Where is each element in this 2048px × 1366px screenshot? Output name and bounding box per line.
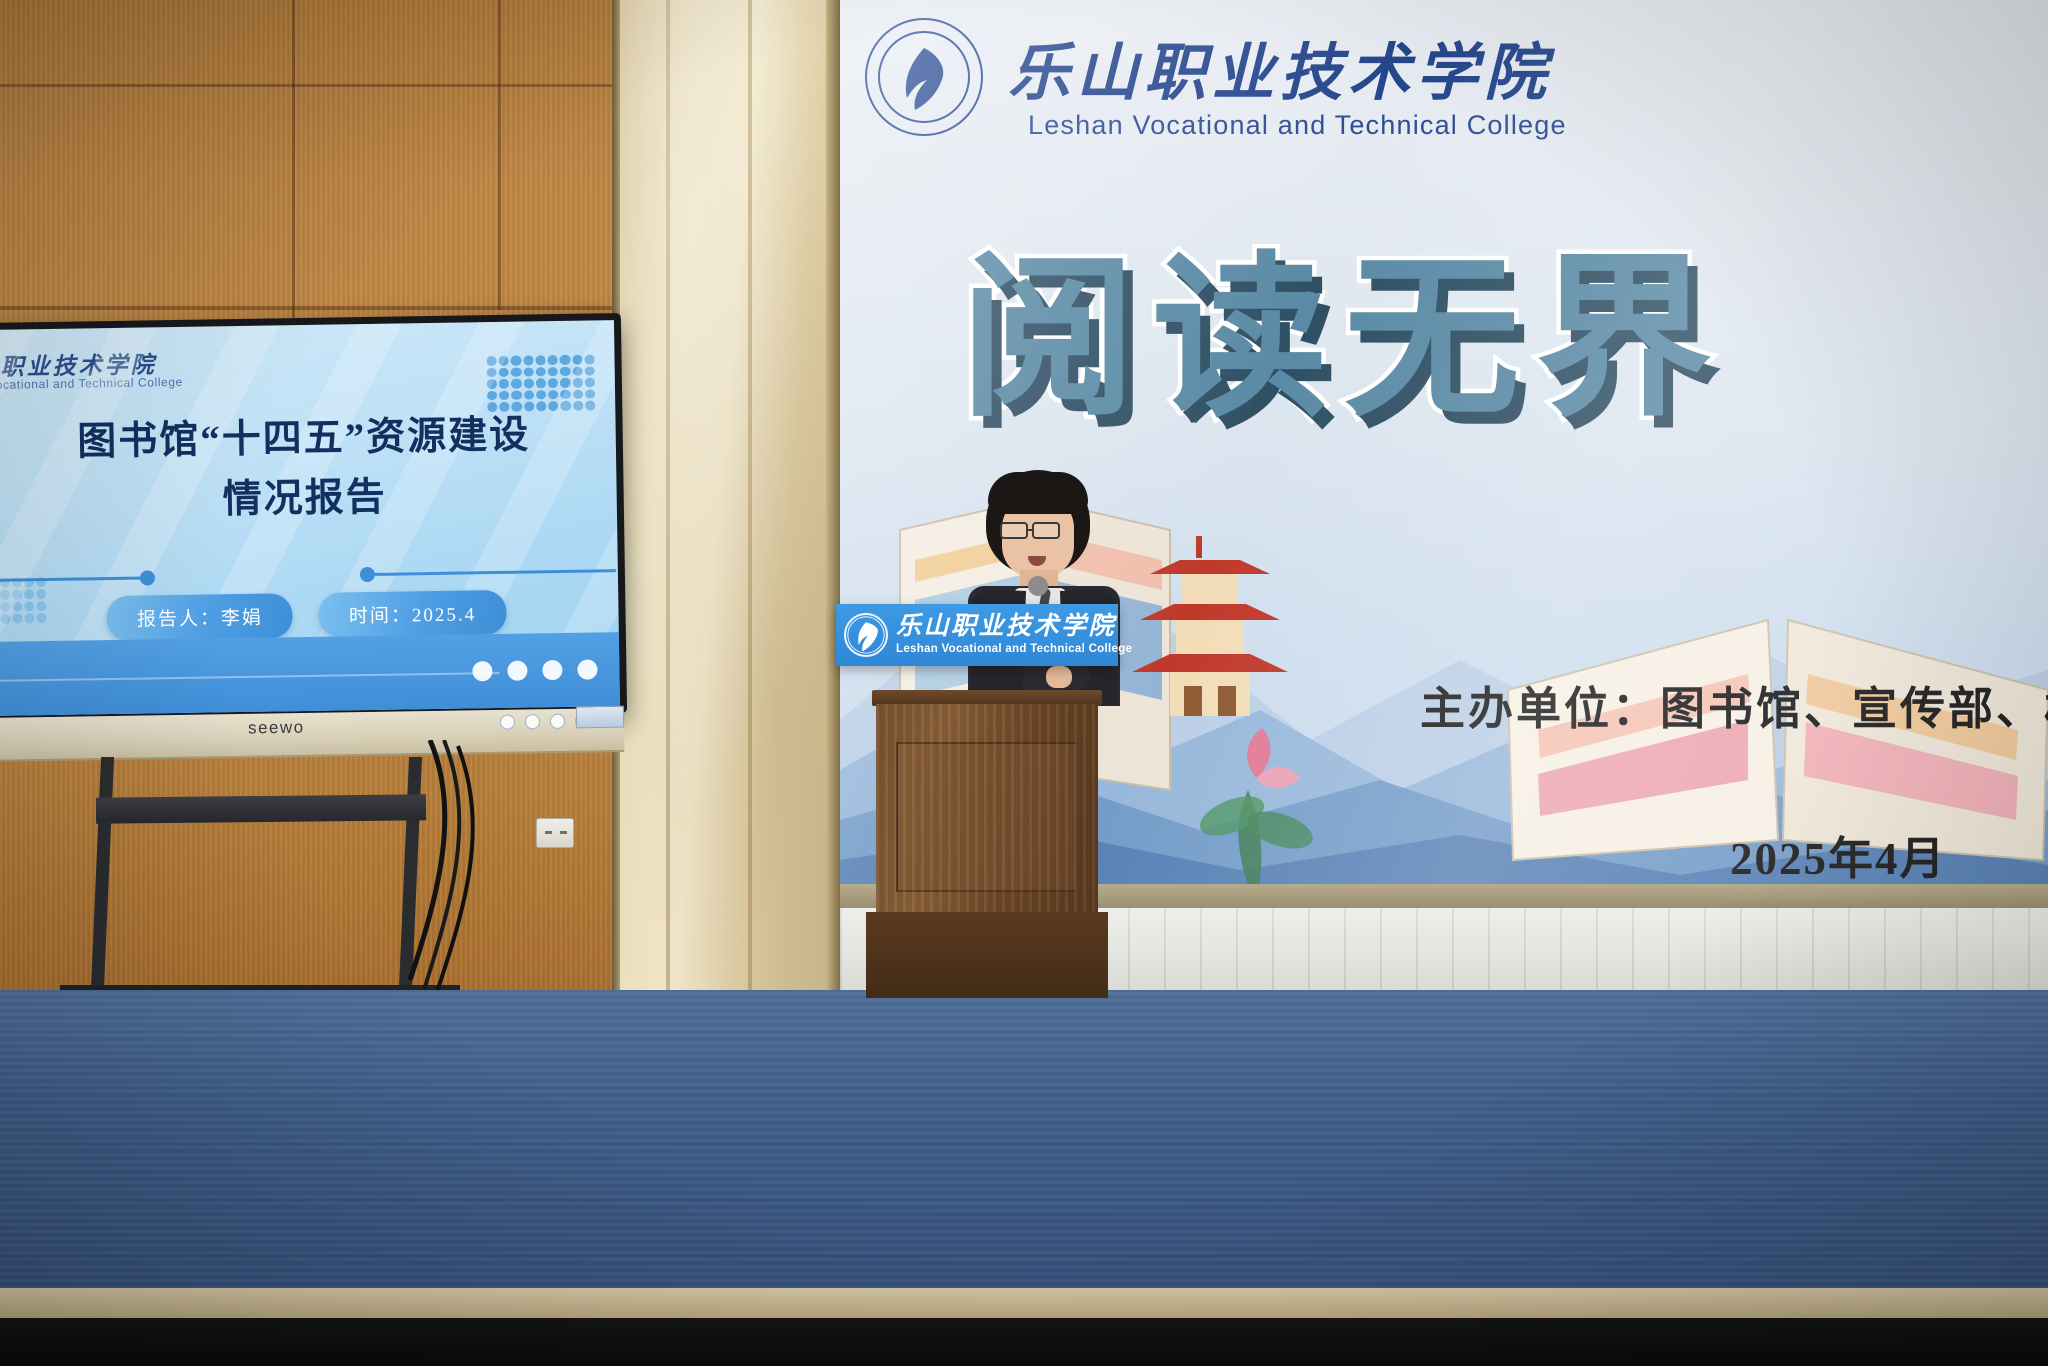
slide-divider-knob-right [360, 567, 375, 582]
slide-title: 图书馆“十四五”资源建设 情况报告 [0, 404, 617, 535]
podium-sign-en: Leshan Vocational and Technical College [896, 644, 1132, 656]
slide-date-pill: 时间：2025.4 [319, 590, 507, 638]
slide-presenter-pill: 报告人：李娟 [107, 593, 294, 641]
banner-organizer-line: 主办单位：图书馆、宣传部、校工 [1420, 672, 2048, 737]
display-button-2[interactable] [525, 714, 540, 729]
podium-sign-text: 乐山职业技术学院 Leshan Vocational and Technical… [896, 614, 1132, 656]
wood-seam-horizontal-top [0, 84, 640, 87]
pillar-groove-2 [748, 0, 752, 1010]
banner-event-date: 2025年4月 [1730, 822, 1947, 887]
podium-name-plate: 乐山职业技术学院 Leshan Vocational and Technical… [836, 604, 1118, 666]
slide-footer-band [0, 632, 620, 716]
speaker-glasses-right-lens [1032, 522, 1060, 539]
display-button-3[interactable] [550, 714, 565, 729]
speaker-glasses-left-lens [1000, 522, 1028, 539]
podium-sign-cn: 乐山职业技术学院 [896, 614, 1132, 639]
crest-swoosh-icon [887, 42, 961, 116]
stage-front-face [0, 1318, 2048, 1366]
scene-root: 乐山职业技术学院 Leshan Vocational and Technical… [0, 0, 2048, 1366]
slide-title-line-1: 图书馆“十四五”资源建设 [77, 413, 531, 463]
pillar-edge-right [826, 0, 840, 1010]
wood-seam-vertical-right [498, 0, 501, 310]
presentation-slide[interactable]: 乐山职业技术学院 Leshan Vocational and Technical… [0, 320, 620, 716]
banner-school-name-en: Leshan Vocational and Technical College [1028, 110, 1567, 141]
slide-dot-grid-decoration [486, 354, 595, 412]
slide-watermark-cn: 乐山职业技术学院 [0, 345, 157, 382]
podium-front-panel [876, 704, 1098, 914]
speaker-hand [1046, 666, 1072, 688]
display-cable-bundle [400, 740, 660, 1000]
slide-divider-right [366, 569, 616, 576]
wall-power-outlet [536, 818, 574, 848]
display-button-1[interactable] [500, 714, 515, 729]
podium-panel-inset [896, 742, 1078, 892]
wood-seam-horizontal-mid [0, 306, 640, 310]
slide-footer-dots [472, 659, 597, 681]
podium-base [866, 912, 1108, 998]
speaker-glasses-bridge [1028, 529, 1034, 531]
podium [876, 690, 1098, 998]
smart-display[interactable]: 乐山职业技术学院 Leshan Vocational and Technical… [0, 313, 627, 723]
display-stand-shelf [96, 794, 426, 823]
slide-divider-knob-left [140, 570, 155, 585]
college-crest-logo [865, 18, 983, 136]
banner-headline: 阅读无界 [960, 195, 1728, 450]
stage-edge-lip [0, 1288, 2048, 1318]
wood-seam-vertical-left [292, 0, 295, 340]
speaker-fringe [988, 472, 1088, 514]
slide-divider-left [0, 577, 144, 583]
display-spec-sticker [576, 706, 624, 729]
slide-watermark-en: Leshan Vocational and Technical College [0, 375, 183, 393]
display-brand-label: seewo [248, 718, 305, 739]
slide-title-line-2: 情况报告 [0, 465, 617, 535]
pillar-groove-1 [666, 0, 670, 1010]
podium-seal-icon [844, 613, 888, 657]
banner-school-name-cn: 乐山职业技术学院 [1008, 22, 1552, 112]
lotus-plant-illustration [1170, 720, 1340, 890]
